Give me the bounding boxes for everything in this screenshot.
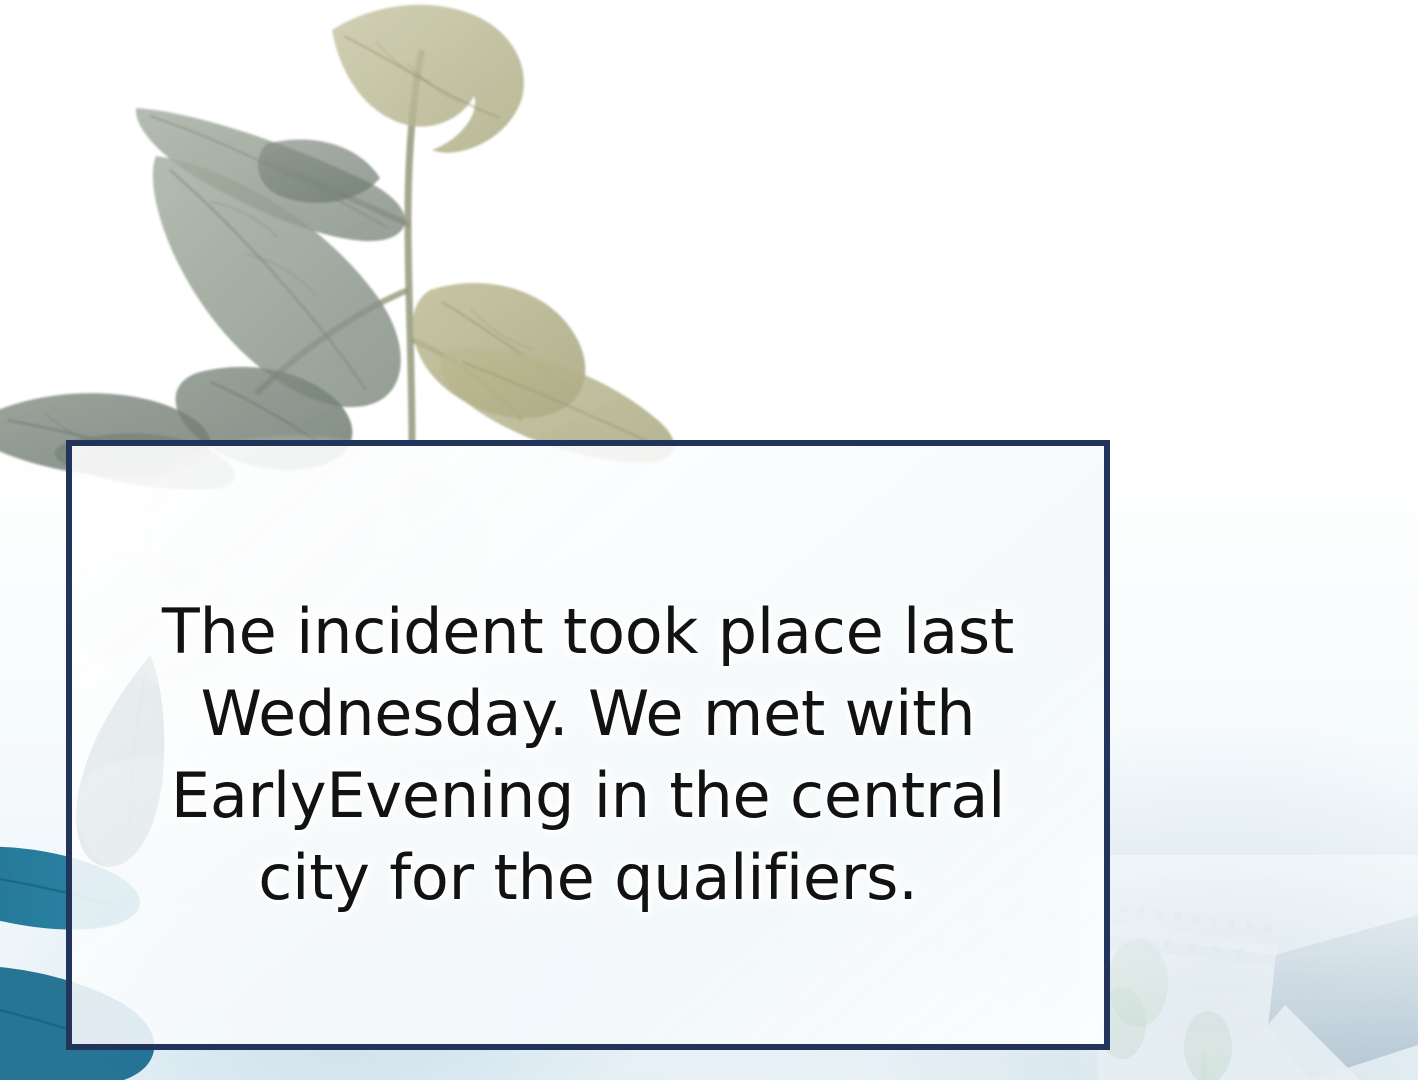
faded-rooftops-photo — [1080, 855, 1418, 1080]
caption-line-2: Wednesday. We met with — [106, 673, 1070, 755]
caption-line-4: city for the qualifiers. — [106, 837, 1070, 919]
caption-line-3: EarlyEvening in the central — [106, 755, 1070, 837]
caption-line-1: The incident took place last — [106, 591, 1070, 673]
caption-frame: The incident took place last Wednesday. … — [66, 440, 1110, 1050]
slide-canvas: The incident took place last Wednesday. … — [0, 0, 1418, 1080]
caption-text: The incident took place last Wednesday. … — [72, 591, 1104, 919]
plant-sprig-illustration — [0, 0, 720, 490]
